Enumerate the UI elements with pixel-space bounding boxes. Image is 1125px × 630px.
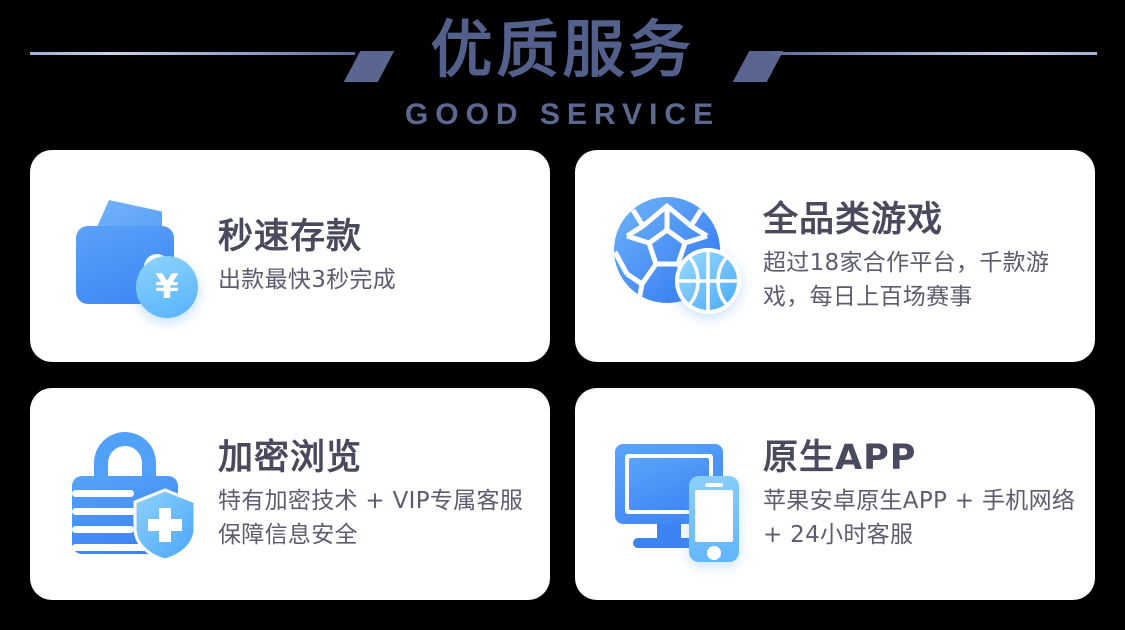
promo-banner: 优质服务 GOOD SERVICE ¥ 秒速存款 出款最快3秒完成	[0, 0, 1125, 630]
feature-card-text: 全品类游戏 超过18家合作平台，千款游戏，每日上百场赛事	[749, 198, 1095, 314]
phone-screen	[695, 490, 733, 542]
basketball-icon	[675, 248, 741, 314]
feature-card-title: 加密浏览	[218, 436, 534, 480]
phone-home-button	[707, 546, 721, 560]
feature-card-description: 出款最快3秒完成	[218, 263, 534, 297]
yuan-symbol: ¥	[155, 270, 179, 304]
wallet-icon: ¥	[64, 186, 204, 326]
feature-card-encryption[interactable]: 加密浏览 特有加密技术 + VIP专属客服保障信息安全	[30, 388, 550, 600]
lock-shield-icon	[64, 424, 204, 564]
feature-card-title: 原生APP	[763, 436, 1079, 480]
feature-card-games[interactable]: 全品类游戏 超过18家合作平台，千款游戏，每日上百场赛事	[575, 150, 1095, 362]
feature-card-title: 秒速存款	[218, 215, 534, 259]
ball-icon	[609, 186, 749, 326]
feature-card-title: 全品类游戏	[763, 198, 1079, 242]
lock-stripe	[72, 490, 134, 497]
feature-card-text: 原生APP 苹果安卓原生APP + 手机网络 + 24小时客服	[749, 436, 1095, 552]
feature-card-text: 加密浏览 特有加密技术 + VIP专属客服保障信息安全	[204, 436, 550, 552]
feature-card-deposit[interactable]: ¥ 秒速存款 出款最快3秒完成	[30, 150, 550, 362]
feature-card-description: 苹果安卓原生APP + 手机网络 + 24小时客服	[763, 484, 1079, 552]
feature-card-native-app[interactable]: 原生APP 苹果安卓原生APP + 手机网络 + 24小时客服	[575, 388, 1095, 600]
feature-card-text: 秒速存款 出款最快3秒完成	[204, 215, 550, 297]
lock-stripe	[72, 526, 134, 533]
page-subtitle: GOOD SERVICE	[0, 96, 1125, 134]
header: 优质服务 GOOD SERVICE	[0, 0, 1125, 140]
phone-speaker	[705, 483, 723, 487]
feature-card-grid: ¥ 秒速存款 出款最快3秒完成	[30, 150, 1095, 600]
page-title: 优质服务	[0, 8, 1125, 92]
monitor-phone-icon	[609, 424, 749, 564]
feature-card-description: 特有加密技术 + VIP专属客服保障信息安全	[218, 484, 534, 552]
yuan-coin-icon: ¥	[136, 256, 198, 318]
shield-icon	[132, 488, 198, 562]
feature-card-description: 超过18家合作平台，千款游戏，每日上百场赛事	[763, 246, 1079, 314]
